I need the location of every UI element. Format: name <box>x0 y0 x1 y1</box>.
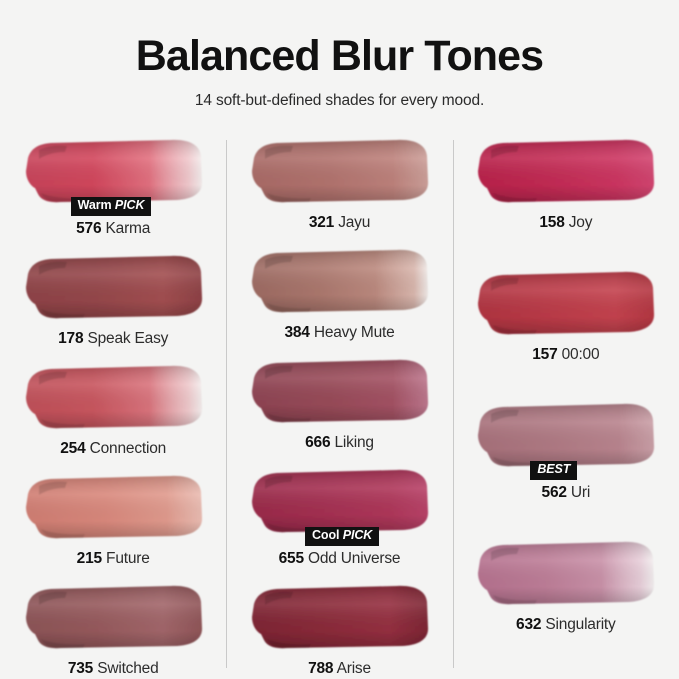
shade-caption: 655 Odd Universe <box>230 550 448 568</box>
shade-caption: 215 Future <box>4 550 222 568</box>
swatch-178[interactable] <box>21 252 206 322</box>
shade-item[interactable]: Warm PICK576 Karma <box>4 136 222 238</box>
swatch-smear-icon <box>473 400 658 470</box>
swatch-smear-icon <box>473 538 658 608</box>
column-3: 158 Joy157 00:00BEST562 Uri632 Singulari… <box>453 136 679 672</box>
badge-suffix: PICK <box>115 198 144 212</box>
badge-cool-pick: Cool PICK <box>305 527 379 546</box>
shade-code: 215 <box>77 550 102 567</box>
shade-item[interactable]: 158 Joy <box>457 136 675 232</box>
swatch-smear-icon <box>247 136 432 206</box>
badge-prefix: Warm <box>78 198 115 212</box>
shade-code: 254 <box>60 440 85 457</box>
shade-caption: 576 Karma <box>4 220 222 238</box>
shade-name: Arise <box>337 660 371 677</box>
lipstick-shade-chart: Balanced Blur Tones 14 soft-but-defined … <box>0 0 679 679</box>
shade-code: 655 <box>279 550 304 567</box>
shade-name: Heavy Mute <box>314 324 395 341</box>
shade-caption: 632 Singularity <box>457 616 675 634</box>
swatch-smear-icon <box>21 136 206 206</box>
shade-caption: 666 Liking <box>230 434 448 452</box>
shade-item[interactable]: Cool PICK655 Odd Universe <box>230 466 448 568</box>
badge-suffix: PICK <box>343 528 372 542</box>
shade-caption: 178 Speak Easy <box>4 330 222 348</box>
swatch-smear-icon <box>473 136 658 206</box>
page-subtitle: 14 soft-but-defined shades for every moo… <box>0 92 679 110</box>
shade-item[interactable]: 157 00:00 <box>457 268 675 364</box>
page-title: Balanced Blur Tones <box>0 34 679 79</box>
shade-caption: 158 Joy <box>457 214 675 232</box>
column-1: Warm PICK576 Karma178 Speak Easy254 Conn… <box>0 136 226 672</box>
swatch-smear-icon <box>21 582 206 652</box>
swatch-smear-icon <box>247 582 432 652</box>
shade-item[interactable]: 321 Jayu <box>230 136 448 232</box>
swatch-smear-icon <box>21 472 206 542</box>
shade-name: Odd Universe <box>308 550 400 567</box>
shade-item[interactable]: 666 Liking <box>230 356 448 452</box>
shade-grid: Warm PICK576 Karma178 Speak Easy254 Conn… <box>0 136 679 672</box>
shade-code: 158 <box>539 214 564 231</box>
badge-label: BEST <box>537 462 570 476</box>
badge-warm-pick: Warm PICK <box>71 197 152 216</box>
shade-code: 576 <box>76 220 101 237</box>
shade-caption: 254 Connection <box>4 440 222 458</box>
swatch-smear-icon <box>247 466 432 536</box>
shade-item[interactable]: 788 Arise <box>230 582 448 678</box>
swatch-smear-icon <box>247 246 432 316</box>
shade-name: Jayu <box>338 214 370 231</box>
shade-item[interactable]: 384 Heavy Mute <box>230 246 448 342</box>
shade-code: 321 <box>309 214 334 231</box>
shade-item[interactable]: 215 Future <box>4 472 222 568</box>
shade-caption: 157 00:00 <box>457 346 675 364</box>
shade-name: Liking <box>335 434 374 451</box>
shade-name: Future <box>106 550 150 567</box>
swatch-576[interactable]: Warm PICK <box>21 136 206 206</box>
shade-item[interactable]: 632 Singularity <box>457 538 675 634</box>
shade-code: 178 <box>58 330 83 347</box>
shade-code: 384 <box>284 324 309 341</box>
swatch-384[interactable] <box>247 246 432 316</box>
shade-code: 562 <box>542 484 567 501</box>
swatch-562[interactable]: BEST <box>473 400 658 470</box>
swatch-158[interactable] <box>473 136 658 206</box>
column-2: 321 Jayu384 Heavy Mute666 LikingCool PIC… <box>226 136 452 672</box>
shade-caption: 788 Arise <box>230 660 448 678</box>
swatch-632[interactable] <box>473 538 658 608</box>
swatch-157[interactable] <box>473 268 658 338</box>
shade-name: Uri <box>571 484 590 501</box>
swatch-788[interactable] <box>247 582 432 652</box>
shade-code: 788 <box>308 660 333 677</box>
swatch-smear-icon <box>473 268 658 338</box>
shade-name: Speak Easy <box>87 330 168 347</box>
shade-name: Connection <box>90 440 166 457</box>
shade-name: Singularity <box>545 616 615 633</box>
shade-name: Switched <box>97 660 158 677</box>
swatch-666[interactable] <box>247 356 432 426</box>
shade-code: 666 <box>305 434 330 451</box>
shade-item[interactable]: 254 Connection <box>4 362 222 458</box>
swatch-215[interactable] <box>21 472 206 542</box>
swatch-254[interactable] <box>21 362 206 432</box>
shade-name: Karma <box>106 220 151 237</box>
shade-item[interactable]: BEST562 Uri <box>457 400 675 502</box>
shade-caption: 562 Uri <box>457 484 675 502</box>
shade-item[interactable]: 735 Switched <box>4 582 222 678</box>
shade-caption: 735 Switched <box>4 660 222 678</box>
swatch-smear-icon <box>247 356 432 426</box>
swatch-321[interactable] <box>247 136 432 206</box>
swatch-735[interactable] <box>21 582 206 652</box>
badge-prefix: Cool <box>312 528 343 542</box>
shade-item[interactable]: 178 Speak Easy <box>4 252 222 348</box>
swatch-smear-icon <box>21 362 206 432</box>
shade-code: 735 <box>68 660 93 677</box>
shade-code: 157 <box>532 346 557 363</box>
header: Balanced Blur Tones 14 soft-but-defined … <box>0 34 679 110</box>
shade-caption: 384 Heavy Mute <box>230 324 448 342</box>
shade-name: 00:00 <box>562 346 600 363</box>
shade-code: 632 <box>516 616 541 633</box>
shade-caption: 321 Jayu <box>230 214 448 232</box>
badge-best: BEST <box>530 461 577 480</box>
shade-name: Joy <box>569 214 593 231</box>
swatch-smear-icon <box>21 252 206 322</box>
swatch-655[interactable]: Cool PICK <box>247 466 432 536</box>
